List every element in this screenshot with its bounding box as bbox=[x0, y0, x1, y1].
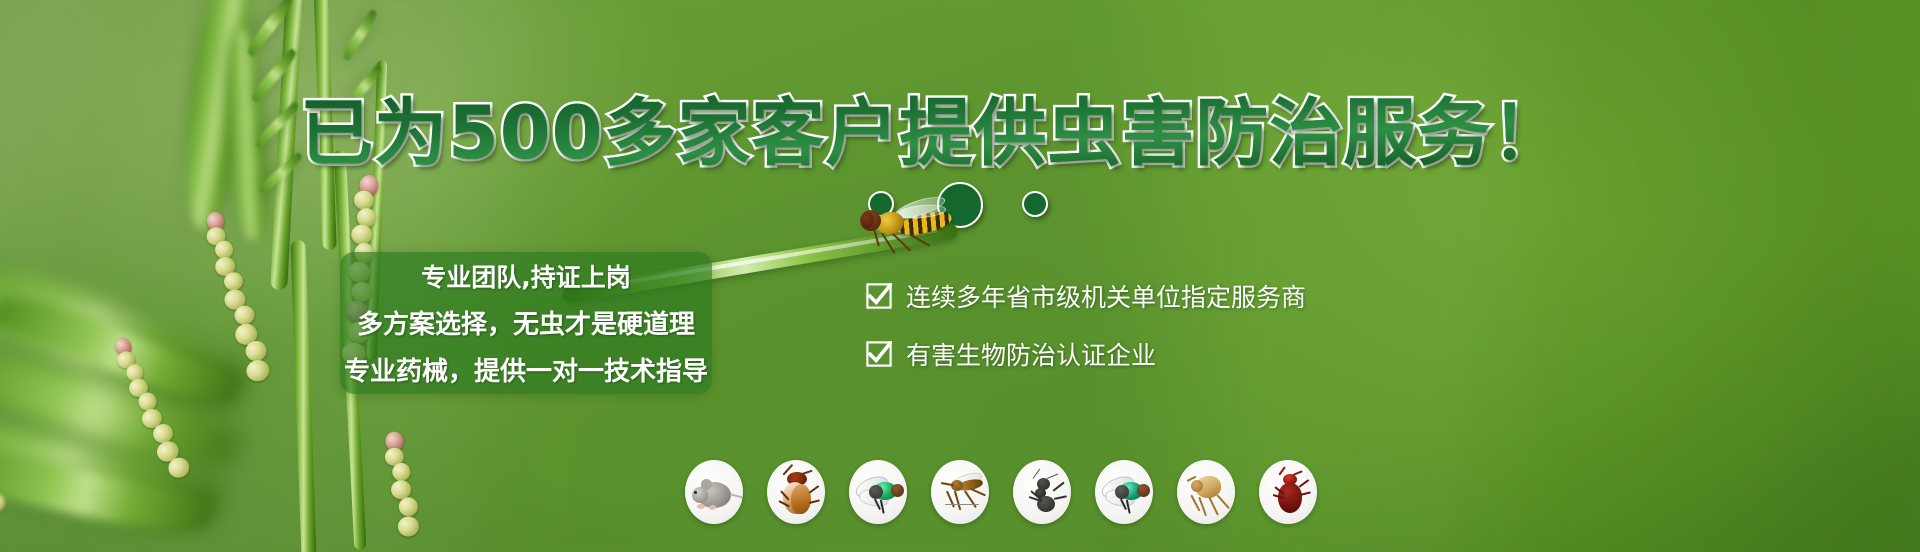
flea-icon[interactable] bbox=[1177, 460, 1235, 524]
feature-panel-text: 专业团队,持证上岗 多方案选择，无虫才是硬道理 专业药械，提供一对一技术指导 bbox=[340, 252, 712, 394]
credential-label: 连续多年省市级机关单位指定服务商 bbox=[906, 278, 1306, 314]
feature-line-3: 专业药械，提供一对一技术指导 bbox=[344, 351, 708, 388]
decor-dot-small-right bbox=[1022, 191, 1048, 217]
credential-item: 有害生物防治认证企业 bbox=[866, 330, 1306, 378]
page-title: 已为500多家客户提供虫害防治服务！ bbox=[300, 74, 1565, 180]
hoverfly-insect bbox=[852, 198, 962, 256]
check-box-icon bbox=[866, 283, 892, 309]
housefly-icon[interactable] bbox=[1095, 460, 1153, 524]
feature-line-1: 专业团队,持证上岗 bbox=[421, 258, 631, 294]
check-box-icon bbox=[866, 341, 892, 367]
hoverfly-eye bbox=[861, 212, 874, 228]
mosquito-icon[interactable] bbox=[931, 460, 989, 524]
ant-icon[interactable] bbox=[1013, 460, 1071, 524]
pest-control-banner: 已为500多家客户提供虫害防治服务！ 已为500多家客户提供虫害防治服务！ 专业… bbox=[0, 0, 1920, 552]
pest-icon-strip bbox=[685, 460, 1317, 524]
blowfly-icon[interactable] bbox=[849, 460, 907, 524]
credential-label: 有害生物防治认证企业 bbox=[906, 336, 1156, 372]
mouse-icon[interactable] bbox=[685, 460, 743, 524]
feature-line-2: 多方案选择，无虫才是硬道理 bbox=[357, 304, 695, 341]
bedbug-icon[interactable] bbox=[1259, 460, 1317, 524]
credential-item: 连续多年省市级机关单位指定服务商 bbox=[866, 272, 1306, 320]
cockroach-icon[interactable] bbox=[767, 460, 825, 524]
flower-spike bbox=[370, 426, 448, 552]
credentials-list: 连续多年省市级机关单位指定服务商 有害生物防治认证企业 bbox=[866, 272, 1306, 378]
